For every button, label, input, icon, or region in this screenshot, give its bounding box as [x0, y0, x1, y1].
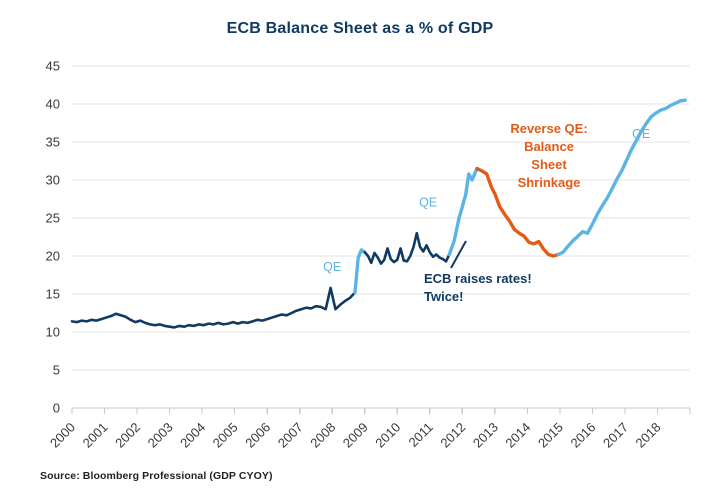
series-lightblue-2	[449, 169, 477, 255]
x-axis-tick-2013: 2013	[470, 420, 501, 451]
y-axis-ticks-group: 051015202530354045	[46, 59, 60, 416]
chart-container: ECB Balance Sheet as a % of GDP 05101520…	[0, 0, 720, 500]
y-axis-tick-25: 25	[46, 211, 60, 226]
x-axis-tick-2002: 2002	[112, 420, 143, 451]
qe-label-3: QE	[632, 127, 650, 141]
series-navy-2	[365, 233, 450, 263]
x-axis-tick-2015: 2015	[535, 420, 566, 451]
x-axis-tick-2001: 2001	[80, 420, 111, 451]
x-axis-tick-2016: 2016	[567, 420, 598, 451]
x-axis-tick-2012: 2012	[437, 420, 468, 451]
annotations-group: QEQEQEReverse QE:BalanceSheetShrinkageEC…	[323, 121, 650, 304]
x-axis-tick-2017: 2017	[600, 420, 631, 451]
rates-line-2: Twice!	[424, 289, 464, 304]
rates-line-1: ECB raises rates!	[424, 271, 532, 286]
y-axis-tick-0: 0	[53, 401, 60, 416]
y-axis-tick-30: 30	[46, 173, 60, 188]
x-axis-tick-2011: 2011	[406, 420, 436, 450]
y-axis-tick-5: 5	[53, 363, 60, 378]
y-axis-tick-10: 10	[46, 325, 60, 340]
gridlines-group	[72, 66, 690, 408]
data-series-group	[72, 100, 685, 327]
x-axis-tick-2018: 2018	[633, 420, 664, 451]
source-note: Source: Bloomberg Professional (GDP CYOY…	[40, 470, 273, 482]
x-axis-tick-2005: 2005	[210, 420, 241, 451]
x-axis-tick-2014: 2014	[502, 420, 533, 451]
y-axis-tick-45: 45	[46, 59, 60, 74]
reverse-qe-line-1: Reverse QE:	[510, 121, 587, 136]
x-axis-tick-2004: 2004	[177, 420, 208, 451]
x-axis-tick-2000: 2000	[47, 420, 78, 451]
y-axis-tick-40: 40	[46, 97, 60, 112]
reverse-qe-line-4: Shrinkage	[518, 175, 581, 190]
y-axis-tick-20: 20	[46, 249, 60, 264]
reverse-qe-line-2: Balance	[524, 139, 574, 154]
chart-plot-area: 051015202530354045 200020012002200320042…	[0, 0, 720, 500]
x-axis-tick-2006: 2006	[242, 420, 273, 451]
x-axis-tick-2003: 2003	[145, 420, 176, 451]
qe-label-1: QE	[323, 260, 341, 274]
x-axis-tick-2009: 2009	[340, 420, 371, 451]
y-axis-tick-15: 15	[46, 287, 60, 302]
y-axis-tick-35: 35	[46, 135, 60, 150]
reverse-qe-line-3: Sheet	[531, 157, 567, 172]
qe-label-2: QE	[419, 196, 437, 210]
x-axis-ticks-group: 2000200120022003200420052006200720082009…	[47, 408, 690, 451]
x-axis-tick-2007: 2007	[275, 420, 306, 451]
x-axis-tick-2008: 2008	[307, 420, 338, 451]
x-axis-tick-2010: 2010	[372, 420, 403, 451]
